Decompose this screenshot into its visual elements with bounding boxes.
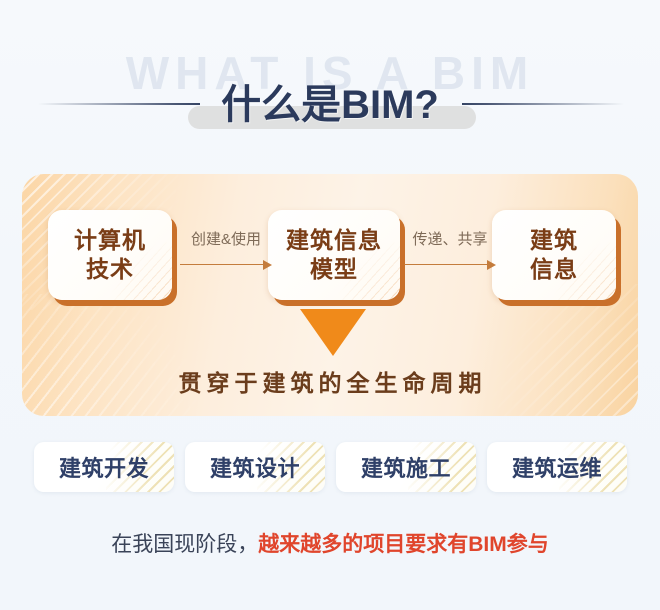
phase-card-development[interactable]: 建筑开发: [34, 442, 174, 492]
flow-node-label-line2: 信息: [530, 255, 578, 284]
phase-card-label: 建筑运维: [512, 451, 602, 483]
connector-label: 传递、共享: [404, 228, 496, 249]
flow-node-building-information: 建筑 信息: [492, 210, 616, 300]
arrow-right-icon: [180, 260, 272, 270]
flow-node-label-line1: 建筑信息: [286, 226, 382, 255]
phase-card-design[interactable]: 建筑设计: [185, 442, 325, 492]
phase-card-operation-maintenance[interactable]: 建筑运维: [487, 442, 627, 492]
flow-connector-transfer-share: 传递、共享: [404, 228, 496, 286]
arrow-head: [263, 260, 272, 270]
flow-node-label-line1: 计算机: [74, 226, 146, 255]
phase-card-row: 建筑开发 建筑设计 建筑施工 建筑运维: [34, 442, 626, 492]
arrow-right-icon: [404, 260, 496, 270]
flow-node-label-line2: 技术: [86, 255, 134, 284]
triangle-down-icon: [300, 309, 366, 356]
lifecycle-caption: 贯穿于建筑的全生命周期: [0, 364, 660, 398]
phase-card-label: 建筑开发: [59, 451, 149, 483]
connector-label: 创建&使用: [180, 228, 272, 249]
phase-card-label: 建筑设计: [210, 451, 300, 483]
flow-node-computer-technology: 计算机 技术: [48, 210, 172, 300]
page-title: 什么是BIM?: [0, 72, 660, 130]
infographic-page: WHAT IS A BIM 什么是BIM? 计算机 技术 建筑信息 模型 建筑 …: [0, 0, 660, 610]
phase-card-construction[interactable]: 建筑施工: [336, 442, 476, 492]
phase-card-label: 建筑施工: [361, 451, 451, 483]
flow-node-label-line1: 建筑: [530, 226, 578, 255]
flow-node-building-information-model: 建筑信息 模型: [268, 210, 400, 300]
arrow-shaft: [180, 264, 264, 265]
footer-note: 在我国现阶段，越来越多的项目要求有BIM参与: [0, 528, 660, 558]
flow-connector-create-use: 创建&使用: [180, 228, 272, 286]
arrow-head: [487, 260, 496, 270]
arrow-shaft: [404, 264, 488, 265]
footer-highlight-text: 越来越多的项目要求有BIM参与: [258, 533, 549, 556]
footer-lead-text: 在我国现阶段，: [111, 533, 258, 556]
header: WHAT IS A BIM 什么是BIM?: [0, 0, 660, 150]
flow-node-label-line2: 模型: [310, 255, 358, 284]
